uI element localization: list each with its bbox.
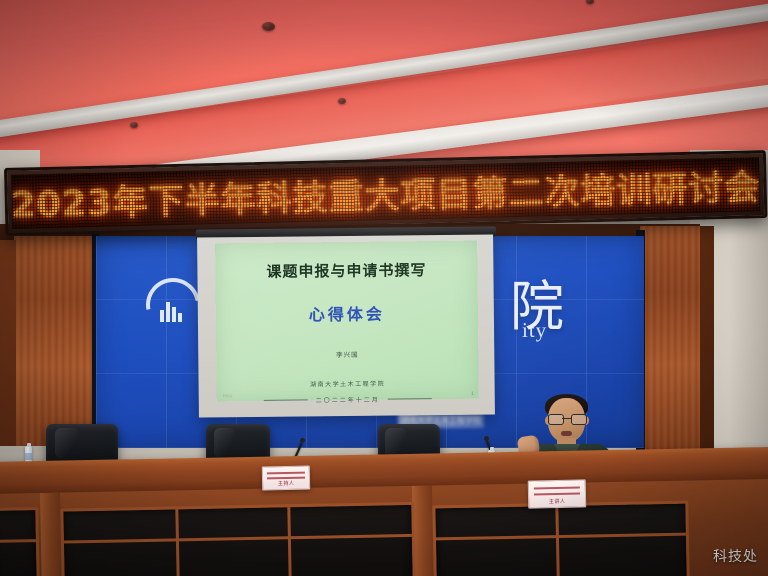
conference-table-front-panel: [0, 479, 768, 576]
chair-highlight: [214, 428, 236, 458]
microphone-head-icon: [300, 438, 305, 443]
name-placard-text: 主讲人: [529, 497, 585, 505]
slide-rule-right: [388, 398, 432, 399]
name-placard: 主讲人: [528, 479, 587, 508]
ceiling-spotlight-icon: [130, 122, 138, 128]
wood-panel-right: [640, 226, 700, 450]
table-recessed-panel: [0, 507, 40, 576]
slide-page-number: 1: [471, 391, 474, 396]
bottle-label: [25, 453, 32, 460]
microphone-head-icon: [484, 436, 489, 441]
slide-organization: 湖南大学土木工程学院: [310, 379, 385, 389]
led-banner-screen: 2023年下半年科技重大项目第二次培训研讨会: [11, 157, 760, 229]
slide-title: 课题申报与申请书撰写: [266, 259, 426, 282]
wood-panel-left-edge: [0, 240, 16, 446]
chair-highlight: [55, 428, 79, 458]
slide-footer-tag: HNU: [223, 393, 233, 398]
table-pillar: [40, 493, 62, 576]
wood-panel-right-edge: [700, 226, 714, 450]
conference-room-photo: 院 ity 湖南大学土木工程学院 2023年下半年科技重大项目第二次培训研讨会 …: [0, 0, 768, 576]
slide-rule-left: [264, 399, 308, 400]
table-recessed-panel: [60, 502, 416, 576]
wood-panel-left: [14, 236, 92, 446]
speaker-mouth: [561, 431, 572, 436]
table-recessed-panel: [432, 501, 690, 576]
photo-watermark: 科技处: [713, 546, 758, 566]
led-banner-text: 2023年下半年科技重大项目第二次培训研讨会: [11, 159, 760, 228]
slide-author: 李兴国: [336, 349, 359, 359]
ceiling-spotlight-icon: [338, 98, 346, 104]
projection-screen: 课题申报与申请书撰写 心得体会 李兴国 湖南大学土木工程学院 二〇二二年十二月 …: [197, 234, 495, 417]
slide-date-row: 二〇二二年十二月: [264, 394, 432, 405]
video-wall-english-word: ity: [522, 318, 547, 343]
name-placard: 主持人: [262, 466, 310, 491]
name-placard-text: 主持人: [263, 480, 309, 488]
slide-date: 二〇二二年十二月: [316, 395, 380, 405]
slide-subtitle: 心得体会: [309, 301, 385, 326]
speaker-glasses-icon: [548, 414, 586, 423]
ceiling-spotlight-icon: [262, 22, 275, 31]
presentation-slide: 课题申报与申请书撰写 心得体会 李兴国 湖南大学土木工程学院 二〇二二年十二月 …: [215, 241, 479, 402]
university-building-logo-icon: [160, 300, 182, 322]
